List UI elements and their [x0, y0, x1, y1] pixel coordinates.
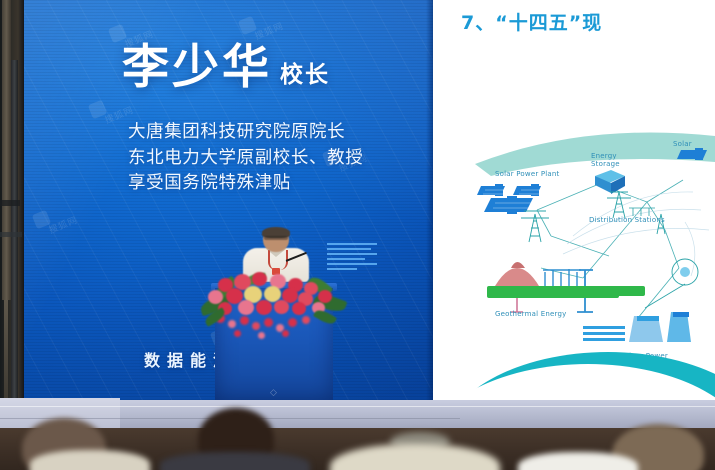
- conference-photo: 李少华 校长 大唐集团科技研究院原院长 东北电力大学原副校长、教授 享受国务院特…: [0, 0, 715, 470]
- slide-heading: 7、“十四五”现: [461, 8, 602, 35]
- audience-shoulders: [160, 452, 310, 470]
- led-bar-graphic: [327, 243, 377, 273]
- stage-left-truss: [0, 0, 24, 430]
- diagram-label-distribution-stations: Distribution Stations: [589, 216, 665, 224]
- diagram-label-geothermal-energy: Geothermal Energy: [495, 310, 566, 318]
- truss-beam-a: [2, 0, 11, 300]
- led-right-edge: [426, 0, 433, 400]
- energy-infrastructure-diagram: [433, 118, 715, 380]
- diagram-label-solar: Solar: [673, 140, 692, 148]
- diagram-label-storage: Storage: [591, 160, 620, 168]
- flower-arrangement: [198, 272, 348, 344]
- diagram-label-solar-power-plant: Solar Power Plant: [495, 170, 560, 178]
- diagram-label-energy: Energy: [591, 152, 617, 160]
- speaker-glasses: [264, 236, 288, 240]
- audience-shoulders: [30, 450, 150, 470]
- podium-watermark: ◇: [270, 388, 277, 398]
- truss-cross-b: [0, 232, 22, 237]
- stage-floor-edge-line: [0, 406, 715, 407]
- presentation-slide: 7、“十四五”现: [433, 0, 715, 404]
- truss-cross-a: [0, 200, 20, 206]
- speaker-title: 校长: [280, 64, 330, 91]
- truss-beam-b: [11, 60, 18, 430]
- credential-line: 大唐集团科技研究院原院长: [128, 120, 363, 146]
- credential-line: 享受国务院特殊津贴: [128, 171, 363, 197]
- audience-shoulders: [518, 452, 638, 470]
- speaker-name: 李少华: [122, 44, 272, 91]
- microphone: [286, 252, 312, 268]
- speaker-name-row: 李少华 校长: [122, 44, 330, 91]
